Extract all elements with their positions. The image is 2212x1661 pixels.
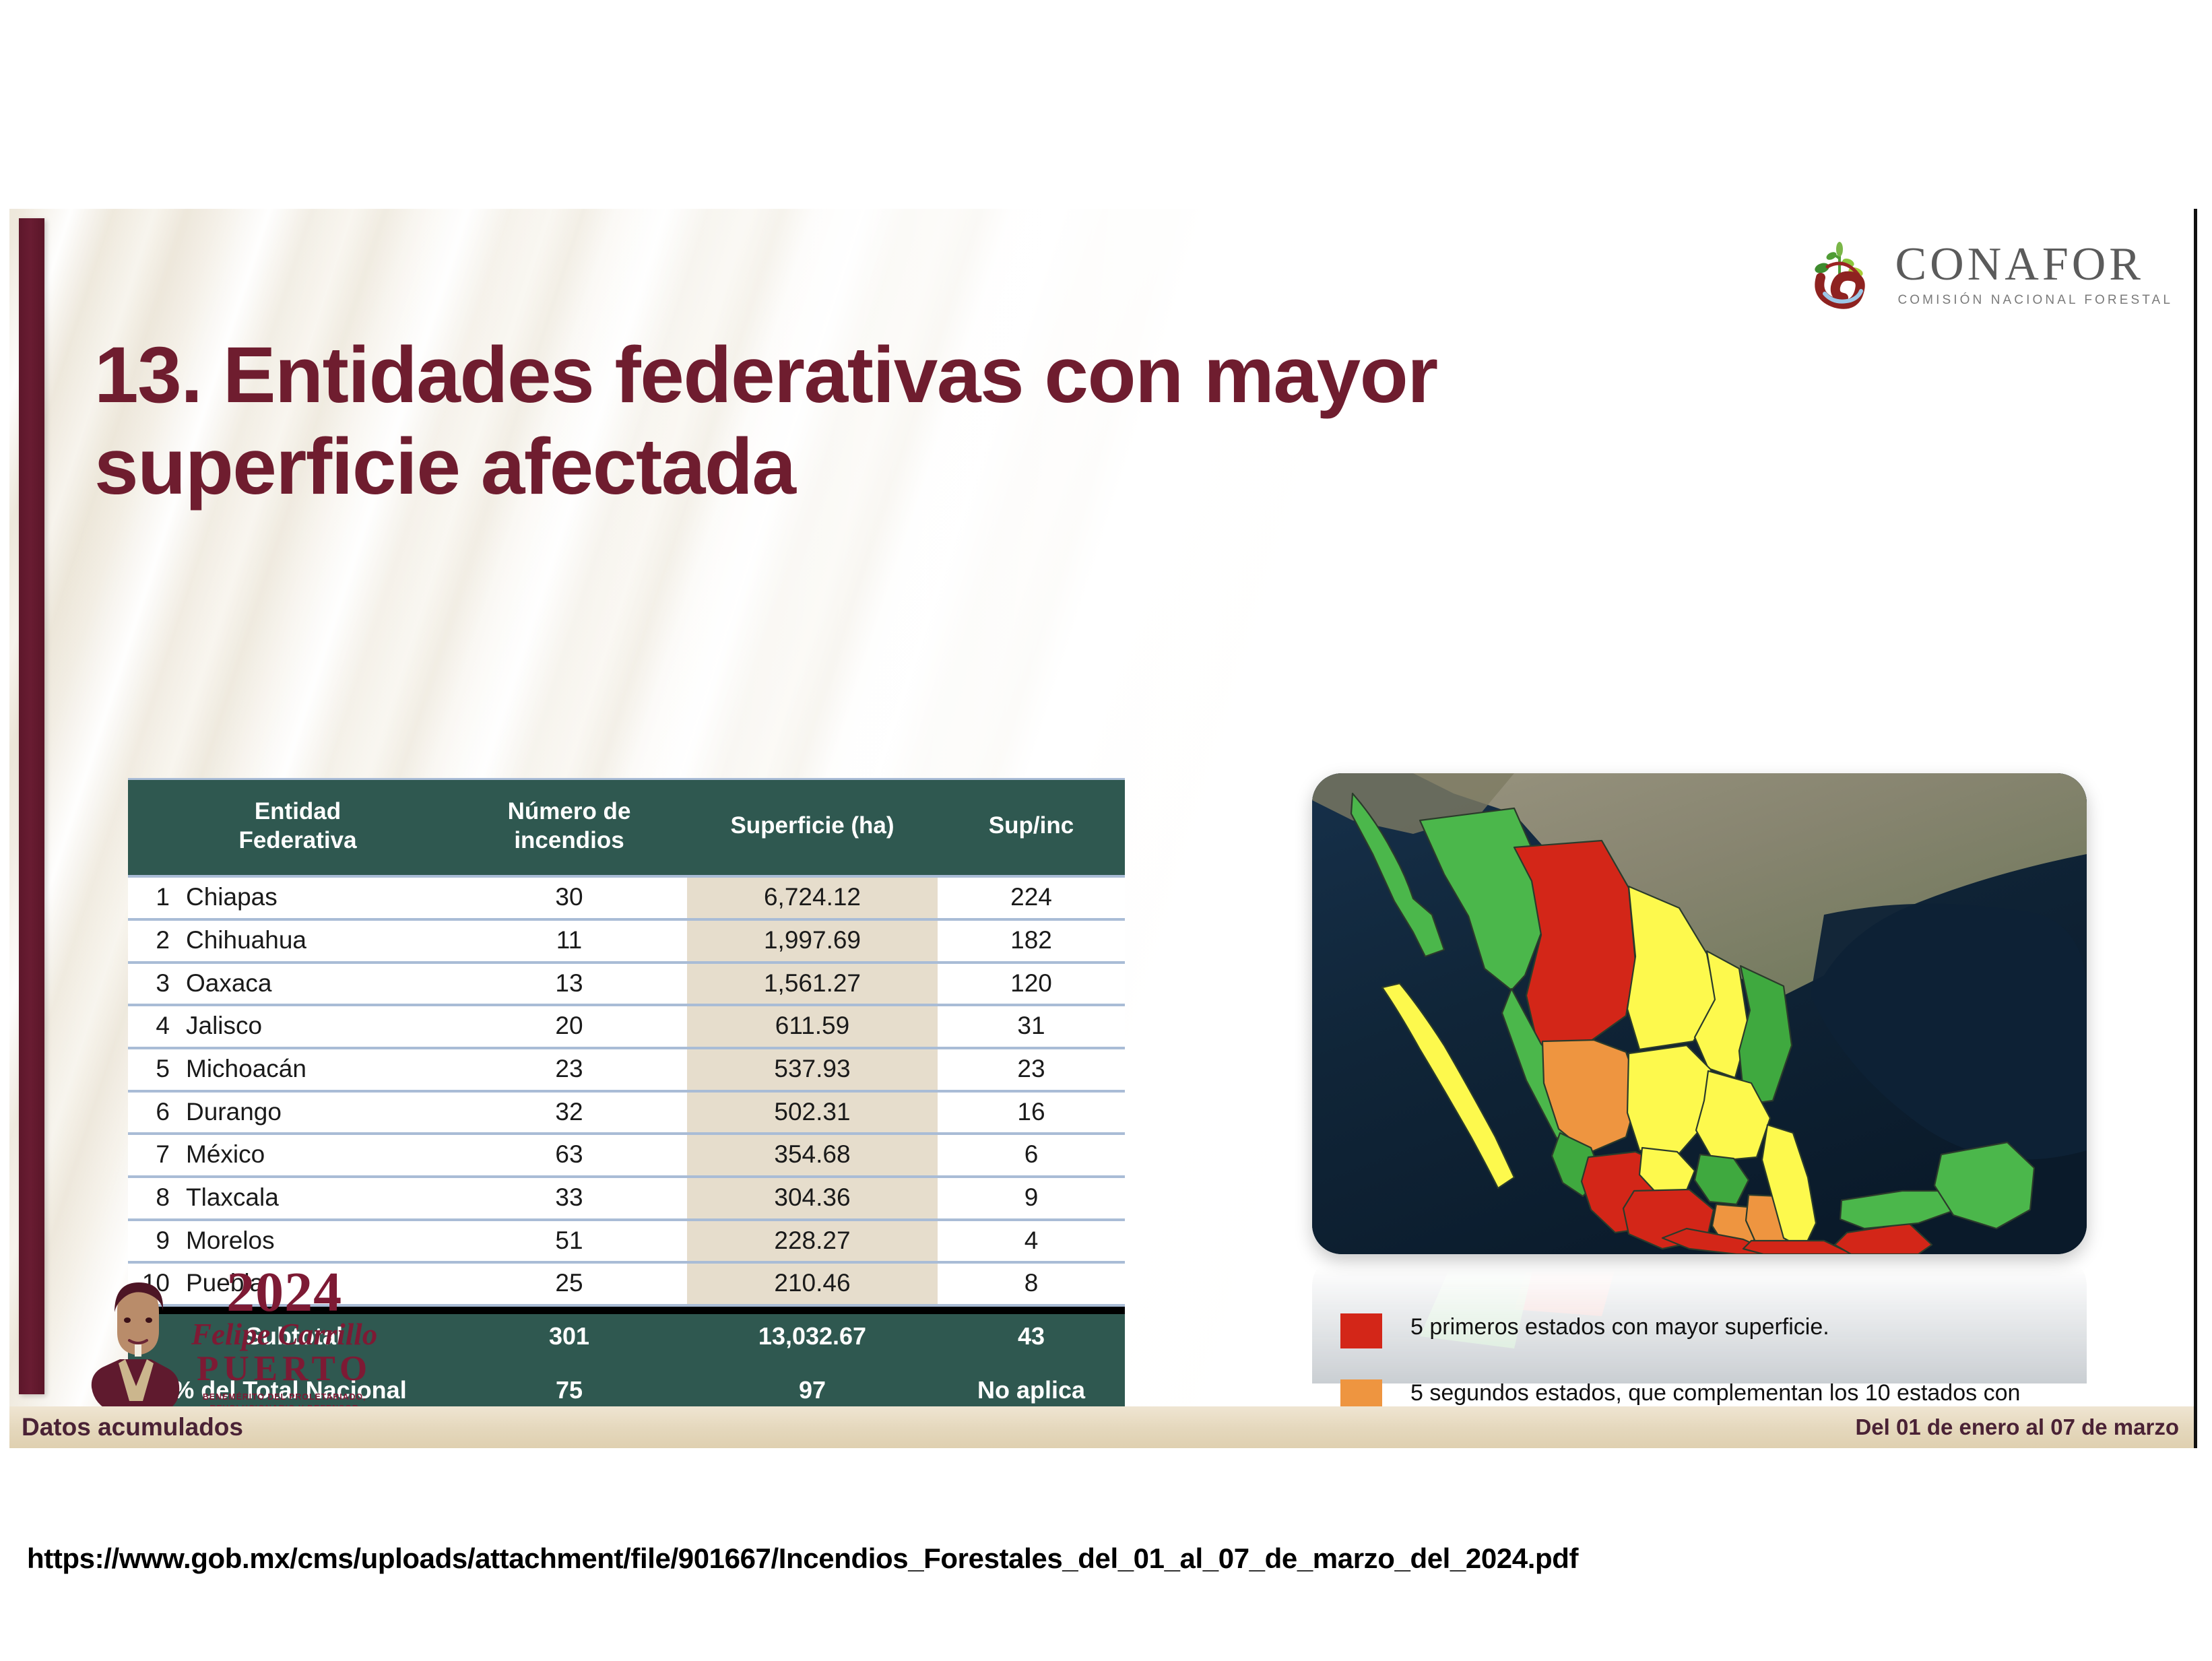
presentation-slide: CONAFOR COMISIÓN NACIONAL FORESTAL 13. E…: [9, 209, 2197, 1448]
cell-rank: 7: [128, 1140, 170, 1169]
cell-entidad-label: Chihuahua: [186, 926, 306, 954]
table-row: 5Michoacán 23 537.93 23: [128, 1048, 1125, 1091]
cell-rank: 2: [128, 925, 170, 955]
cell-incendios: 32: [451, 1091, 687, 1134]
cell-supinc: 16: [938, 1091, 1125, 1134]
legend-item: 5 primeros estados con mayor superficie.: [1340, 1312, 2115, 1348]
source-url-caption[interactable]: https://www.gob.mx/cms/uploads/attachmen…: [27, 1542, 1578, 1575]
cell-superficie: 1,997.69: [687, 919, 938, 963]
cell-entidad: 2Chihuahua: [128, 919, 451, 963]
cell-supinc: 224: [938, 876, 1125, 919]
summary-incendios: 301: [451, 1314, 687, 1359]
cell-entidad: 3Oaxaca: [128, 963, 451, 1006]
footer-label-date-range: Del 01 de enero al 07 de marzo: [1855, 1414, 2179, 1440]
cell-rank: 4: [128, 1011, 170, 1041]
column-header-supinc: Sup/inc: [938, 779, 1125, 877]
commemorative-year: 2024: [226, 1266, 342, 1318]
column-header-superficie: Superficie (ha): [687, 779, 938, 877]
page-title: 13. Entidades federativas con mayor supe…: [94, 330, 1819, 513]
commemorative-text: 2024 Felipe Carrillo PUERTO BENEMÉRITO D…: [191, 1266, 377, 1426]
cell-incendios: 23: [451, 1048, 687, 1091]
cell-entidad: 9Morelos: [128, 1220, 451, 1263]
cell-rank: 6: [128, 1097, 170, 1127]
table-header: Entidad Federativa Número de incendios S…: [128, 779, 1125, 877]
cell-rank: 3: [128, 969, 170, 998]
cell-superficie: 228.27: [687, 1220, 938, 1263]
cell-superficie: 502.31: [687, 1091, 938, 1134]
legend-swatch-red: [1340, 1313, 1382, 1348]
cell-incendios: 51: [451, 1220, 687, 1263]
cell-incendios: 63: [451, 1134, 687, 1177]
cell-supinc: 182: [938, 919, 1125, 963]
cell-superficie: 537.93: [687, 1048, 938, 1091]
cell-supinc: 6: [938, 1134, 1125, 1177]
cell-entidad: 6Durango: [128, 1091, 451, 1134]
table-header-row: Entidad Federativa Número de incendios S…: [128, 779, 1125, 877]
cell-entidad-label: México: [186, 1140, 265, 1168]
header-line-2: Federativa: [238, 827, 356, 853]
cell-entidad-label: Morelos: [186, 1227, 275, 1254]
cell-incendios: 25: [451, 1262, 687, 1305]
table-body: 1Chiapas 30 6,724.12 224 2Chihuahua 11 1…: [128, 876, 1125, 1314]
conafor-logo-text: CONAFOR COMISIÓN NACIONAL FORESTAL: [1895, 242, 2173, 308]
cell-entidad: 1Chiapas: [128, 876, 451, 919]
cell-entidad-label: Durango: [186, 1098, 282, 1126]
cell-incendios: 20: [451, 1005, 687, 1048]
cell-entidad-label: Michoacán: [186, 1055, 306, 1082]
cell-superficie: 354.68: [687, 1134, 938, 1177]
cell-superficie: 1,561.27: [687, 963, 938, 1006]
commemorative-name: Felipe Carrillo: [191, 1320, 377, 1350]
header-line-2: incendios: [514, 827, 624, 853]
conafor-wordmark: CONAFOR: [1895, 242, 2173, 288]
cell-supinc: 8: [938, 1262, 1125, 1305]
table-row: 9Morelos 51 228.27 4: [128, 1220, 1125, 1263]
cell-entidad-label: Oaxaca: [186, 969, 272, 997]
cell-entidad: 5Michoacán: [128, 1048, 451, 1091]
column-header-entidad: Entidad Federativa: [128, 779, 451, 877]
cell-entidad: 7México: [128, 1134, 451, 1177]
table-row: 1Chiapas 30 6,724.12 224: [128, 876, 1125, 919]
table-row: 6Durango 32 502.31 16: [128, 1091, 1125, 1134]
conafor-subtitle: COMISIÓN NACIONAL FORESTAL: [1897, 293, 2173, 308]
slide-right-border: [2194, 209, 2197, 1448]
cell-entidad: 4Jalisco: [128, 1005, 451, 1048]
cell-incendios: 30: [451, 876, 687, 919]
mexico-choropleth-map: [1312, 773, 2087, 1254]
commemorative-logo-2024: 2024 Felipe Carrillo PUERTO BENEMÉRITO D…: [85, 1268, 422, 1424]
cell-incendios: 11: [451, 919, 687, 963]
tagline-line-1: BENEMÉRITO DEL PROLETARIADO,: [203, 1392, 366, 1402]
cell-supinc: 4: [938, 1220, 1125, 1263]
conafor-emblem-icon: [1809, 238, 1884, 311]
cell-rank: 9: [128, 1226, 170, 1256]
cell-superficie: 210.46: [687, 1262, 938, 1305]
commemorative-place: PUERTO: [197, 1350, 372, 1387]
cell-entidad-label: Tlaxcala: [186, 1183, 279, 1211]
cell-entidad-label: Chiapas: [186, 883, 278, 911]
table-row: 2Chihuahua 11 1,997.69 182: [128, 919, 1125, 963]
table-row: 8Tlaxcala 33 304.36 9: [128, 1177, 1125, 1220]
cell-entidad: 8Tlaxcala: [128, 1177, 451, 1220]
left-accent-bar: [19, 218, 44, 1394]
slide-footer-bar: Datos acumulados Del 01 de enero al 07 d…: [9, 1406, 2194, 1448]
cell-superficie: 6,724.12: [687, 876, 938, 919]
header-line-1: Número de: [508, 798, 631, 824]
cell-incendios: 33: [451, 1177, 687, 1220]
legend-label: 5 primeros estados con mayor superficie.: [1410, 1312, 1829, 1342]
cell-rank: 5: [128, 1054, 170, 1084]
footer-label-datos-acumulados: Datos acumulados: [22, 1413, 243, 1441]
cell-superficie: 304.36: [687, 1177, 938, 1220]
cell-superficie: 611.59: [687, 1005, 938, 1048]
table-row: 7México 63 354.68 6: [128, 1134, 1125, 1177]
cell-supinc: 23: [938, 1048, 1125, 1091]
table-row: 4Jalisco 20 611.59 31: [128, 1005, 1125, 1048]
map-graphic: [1312, 773, 2087, 1254]
cell-rank: 1: [128, 882, 170, 912]
cell-entidad-label: Jalisco: [186, 1012, 262, 1039]
cell-supinc: 9: [938, 1177, 1125, 1220]
summary-superficie: 13,032.67: [687, 1314, 938, 1359]
column-header-incendios: Número de incendios: [451, 779, 687, 877]
cell-incendios: 13: [451, 963, 687, 1006]
cell-supinc: 120: [938, 963, 1125, 1006]
table-row: 3Oaxaca 13 1,561.27 120: [128, 963, 1125, 1006]
header-line-1: Entidad: [255, 798, 341, 824]
cell-rank: 8: [128, 1183, 170, 1212]
cell-supinc: 31: [938, 1005, 1125, 1048]
summary-supinc: 43: [938, 1314, 1125, 1359]
conafor-logo: CONAFOR COMISIÓN NACIONAL FORESTAL: [1809, 238, 2173, 311]
felipe-carrillo-puerto-portrait-icon: [85, 1273, 187, 1419]
